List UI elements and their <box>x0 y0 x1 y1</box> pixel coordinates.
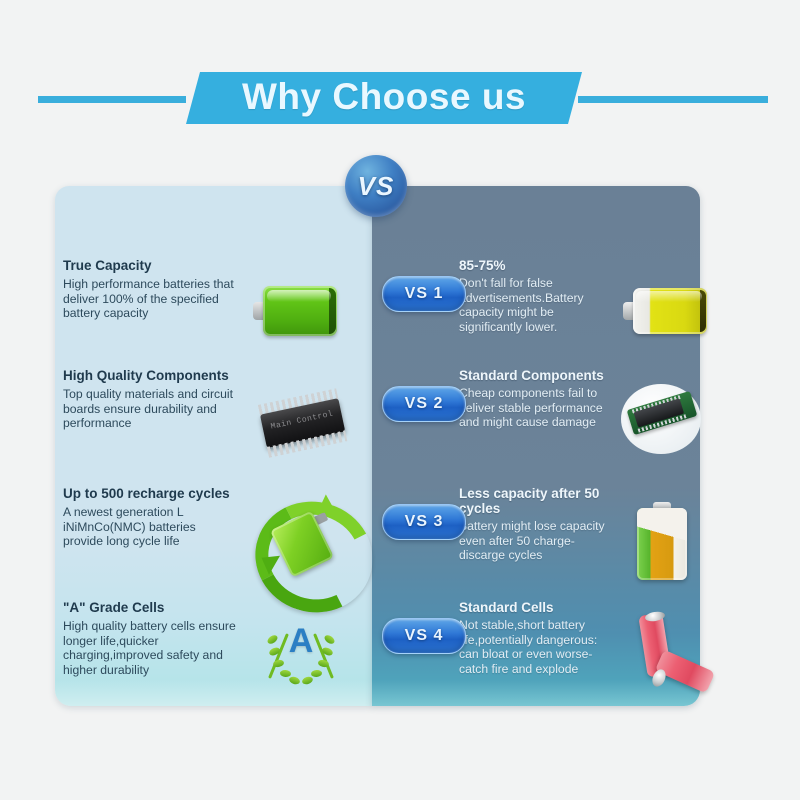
con-text-block: Standard Cells Not stable,short battery … <box>459 600 614 676</box>
grade-letter: A <box>255 624 347 658</box>
pcb-board-icon <box>615 372 705 472</box>
laurel-wreath-a-grade-icon: A <box>241 606 361 702</box>
chip-label: Main Control <box>262 408 342 433</box>
pro-body: Top quality materials and circuit boards… <box>63 387 238 431</box>
con-body: Cheap components fail to deliver stable … <box>459 386 614 430</box>
comparison-panels: True Capacity High performance batteries… <box>55 186 700 706</box>
con-title: 85-75% <box>459 258 614 273</box>
pro-text-block: "A" Grade Cells High quality battery cel… <box>63 600 238 677</box>
vs-step-label: VS 4 <box>405 627 444 645</box>
con-text-block: Less capacity after 50 cycles Battery mi… <box>459 486 614 563</box>
vs-circle-label: VS <box>358 171 395 202</box>
title-line-right <box>578 96 768 103</box>
pro-title: "A" Grade Cells <box>63 600 238 615</box>
pro-title: Up to 500 recharge cycles <box>63 486 238 501</box>
infographic-canvas: Why Choose us VS True Capacity High perf… <box>0 0 800 800</box>
vs-step-badge: VS 1 <box>382 276 466 312</box>
recycle-battery-icon <box>241 492 361 588</box>
yellow-battery-partial-icon <box>615 262 705 362</box>
pro-text-block: True Capacity High performance batteries… <box>63 258 238 321</box>
vs-step-badge: VS 2 <box>382 386 466 422</box>
con-body: Battery might lose capacity even after 5… <box>459 519 614 563</box>
pro-body: A newest generation L iNiMnCo(NMC) batte… <box>63 505 238 549</box>
pro-body: High performance batteries that deliver … <box>63 277 238 321</box>
pro-text-block: Up to 500 recharge cycles A newest gener… <box>63 486 238 549</box>
con-cell: VS 3 Less capacity after 50 cycles Batte… <box>372 486 700 596</box>
con-text-block: 85-75% Don't fall for false advertisemen… <box>459 258 614 334</box>
half-empty-battery-icon <box>615 490 705 590</box>
con-body: Don't fall for false advertisements.Batt… <box>459 276 614 334</box>
pro-text-block: High Quality Components Top quality mate… <box>63 368 238 431</box>
pro-title: High Quality Components <box>63 368 238 383</box>
pro-cell: True Capacity High performance batteries… <box>55 258 372 368</box>
con-title: Standard Components <box>459 368 614 383</box>
con-title: Standard Cells <box>459 600 614 615</box>
pro-body: High quality battery cells ensure longer… <box>63 619 238 677</box>
comparison-row: "A" Grade Cells High quality battery cel… <box>55 600 700 710</box>
con-cell: VS 1 85-75% Don't fall for false adverti… <box>372 258 700 368</box>
comparison-row: True Capacity High performance batteries… <box>55 258 700 368</box>
con-body: Not stable,short battery life,potentiall… <box>459 618 614 676</box>
con-title: Less capacity after 50 cycles <box>459 486 614 516</box>
ic-chip-icon: Main Control <box>241 374 361 470</box>
red-cylindrical-cells-icon <box>615 604 705 704</box>
vs-step-badge: VS 4 <box>382 618 466 654</box>
vs-step-label: VS 3 <box>405 513 444 531</box>
con-text-block: Standard Components Cheap components fai… <box>459 368 614 430</box>
pro-cell: High Quality Components Top quality mate… <box>55 368 372 478</box>
pro-cell: Up to 500 recharge cycles A newest gener… <box>55 486 372 596</box>
comparison-row: High Quality Components Top quality mate… <box>55 368 700 478</box>
vs-step-badge: VS 3 <box>382 504 466 540</box>
con-cell: VS 2 Standard Components Cheap component… <box>372 368 700 478</box>
vs-circle-badge: VS <box>345 155 407 217</box>
title-banner-shape: Why Choose us <box>186 72 582 124</box>
con-cell: VS 4 Standard Cells Not stable,short bat… <box>372 600 700 710</box>
vs-step-label: VS 2 <box>405 395 444 413</box>
title-line-left <box>38 96 186 103</box>
pro-title: True Capacity <box>63 258 238 273</box>
green-battery-horizontal-icon <box>241 264 361 360</box>
comparison-row: Up to 500 recharge cycles A newest gener… <box>55 486 700 596</box>
page-title: Why Choose us <box>242 78 526 118</box>
vs-step-label: VS 1 <box>405 285 444 303</box>
pro-cell: "A" Grade Cells High quality battery cel… <box>55 600 372 710</box>
title-banner: Why Choose us <box>0 72 800 128</box>
